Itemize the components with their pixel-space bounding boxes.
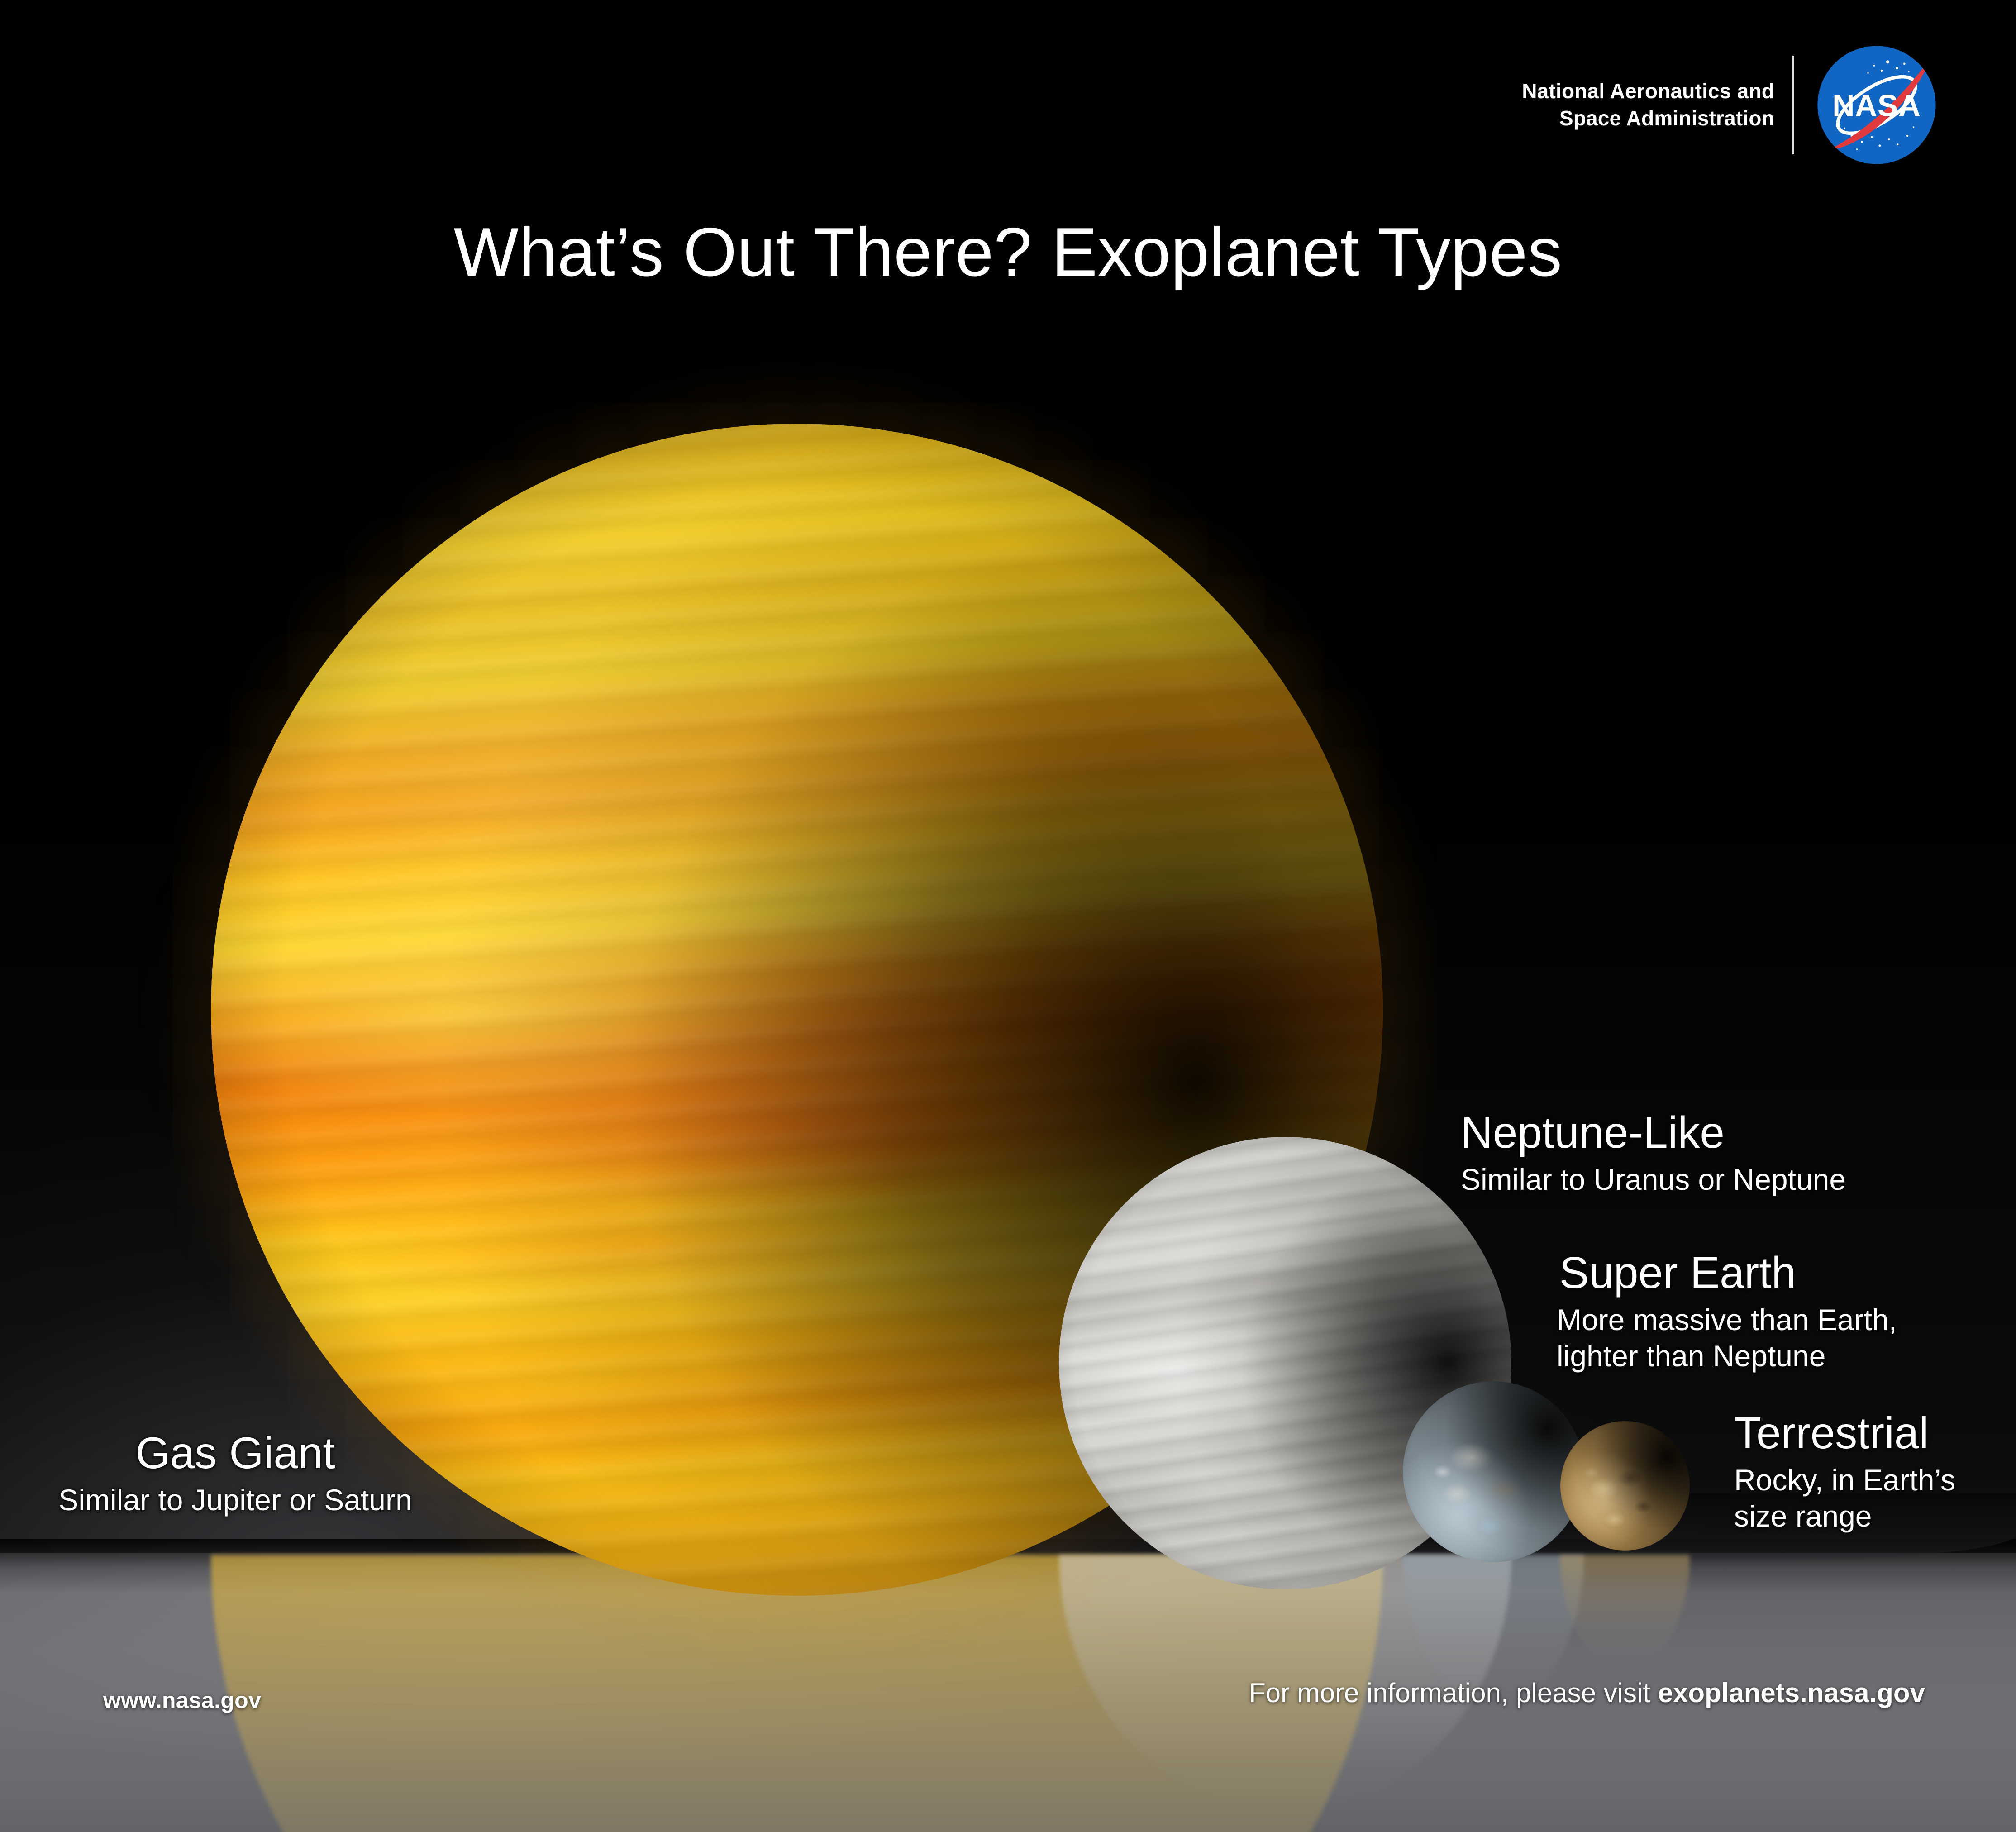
super-earth-terminator-shading (1403, 1381, 1584, 1562)
super-earth-description-line-1: More massive than Earth, (1557, 1302, 2009, 1338)
terrestrial-terminator-shading (1560, 1421, 1690, 1551)
super-earth-description-line-2: lighter than Neptune (1557, 1338, 2009, 1374)
nasa-meatball-logo-icon: NASA (1815, 43, 1938, 167)
nasa-agency-name: National Aeronautics and Space Administr… (1522, 78, 1792, 132)
gas-giant-description: Similar to Jupiter or Saturn (41, 1482, 430, 1518)
super-earth-label: Super Earth (1559, 1250, 2009, 1296)
neptune-like-label: Neptune-Like (1461, 1110, 2004, 1156)
exoplanet-types-poster: National Aeronautics and Space Administr… (0, 0, 2016, 1832)
callout-neptune-like: Neptune-Like Similar to Uranus or Neptun… (1461, 1110, 2004, 1197)
terrestrial-description-line-1: Rocky, in Earth’s (1734, 1462, 2015, 1498)
callout-terrestrial: Terrestrial Rocky, in Earth’s size range (1734, 1410, 2015, 1535)
nasa-url[interactable]: www.nasa.gov (103, 1687, 261, 1713)
super-earth-description: More massive than Earth, lighter than Ne… (1557, 1302, 2009, 1374)
terrestrial-description: Rocky, in Earth’s size range (1734, 1462, 2015, 1535)
header-divider (1792, 56, 1794, 154)
terrestrial-description-line-2: size range (1734, 1498, 2015, 1535)
nasa-logo-wordmark: NASA (1832, 88, 1921, 123)
exoplanets-url[interactable]: exoplanets.nasa.gov (1658, 1678, 1925, 1708)
neptune-like-description: Similar to Uranus or Neptune (1461, 1161, 2004, 1198)
super-earth-planet (1403, 1381, 1584, 1562)
terrestrial-planet (1560, 1421, 1690, 1551)
callout-gas-giant: Gas Giant Similar to Jupiter or Saturn (41, 1430, 430, 1518)
page-title: What’s Out There? Exoplanet Types (0, 213, 2016, 292)
more-information-prefix: For more information, please visit (1249, 1678, 1658, 1708)
terrestrial-label: Terrestrial (1734, 1410, 2015, 1456)
callout-super-earth: Super Earth More massive than Earth, lig… (1557, 1250, 2009, 1374)
more-information-line: For more information, please visit exopl… (1249, 1677, 1925, 1708)
nasa-header: National Aeronautics and Space Administr… (1522, 43, 1938, 167)
agency-line-1: National Aeronautics and (1522, 78, 1774, 105)
gas-giant-label: Gas Giant (41, 1430, 430, 1476)
agency-line-2: Space Administration (1522, 105, 1774, 132)
